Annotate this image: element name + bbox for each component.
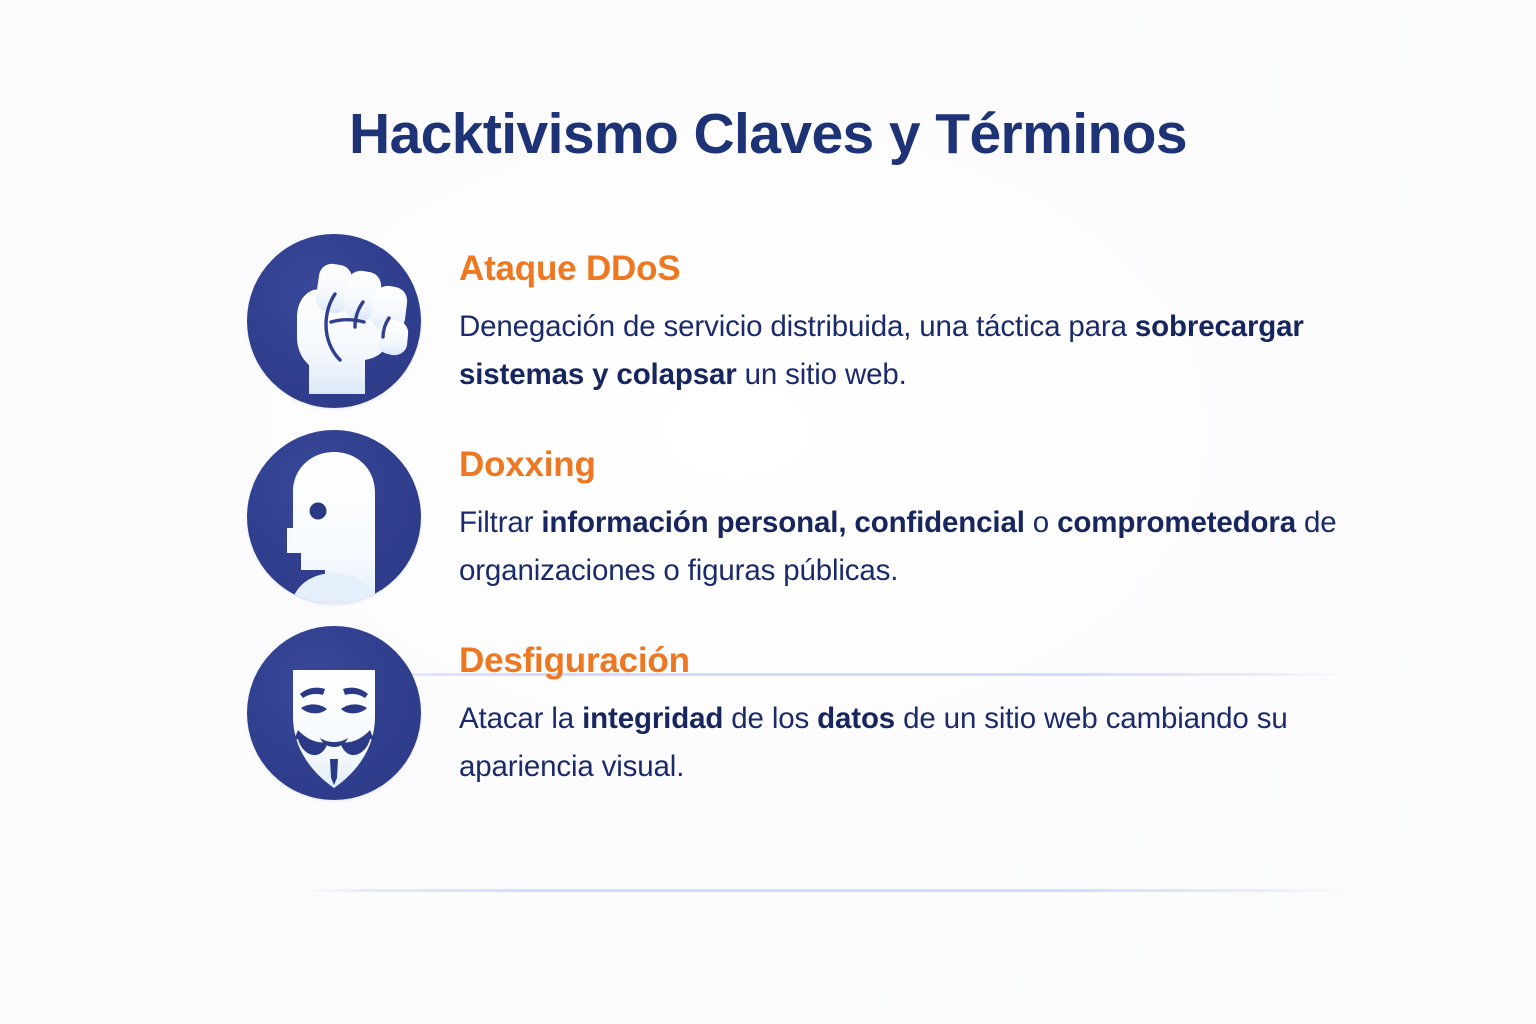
term-row: Desfiguración Atacar la integridad de lo… [0,624,1536,820]
term-list: Ataque DDoS Denegación de servicio distr… [0,232,1536,820]
term-heading: Ataque DDoS [459,250,1346,289]
term-heading: Desfiguración [459,642,1346,681]
term-description: Atacar la integridad de los datos de un … [459,695,1346,791]
head-profile-icon [247,430,421,604]
term-description: Filtrar información personal, confidenci… [459,499,1346,595]
term-row: Ataque DDoS Denegación de servicio distr… [0,232,1536,428]
guy-fawkes-mask-icon [247,626,421,800]
term-heading: Doxxing [459,446,1346,485]
raised-fist-icon [247,234,421,408]
term-text-block: Desfiguración Atacar la integridad de lo… [421,624,1536,791]
page-title: Hacktivismo Claves y Términos [349,103,1187,167]
term-text-block: Ataque DDoS Denegación de servicio distr… [421,232,1536,399]
term-text-block: Doxxing Filtrar información personal, co… [421,428,1536,595]
infographic-root: Hacktivismo Claves y Términos [0,0,1536,1024]
term-description: Denegación de servicio distribuida, una … [459,303,1346,399]
section-divider [300,889,1350,892]
term-row: Doxxing Filtrar información personal, co… [0,428,1536,624]
title-container: Hacktivismo Claves y Términos [0,103,1536,167]
